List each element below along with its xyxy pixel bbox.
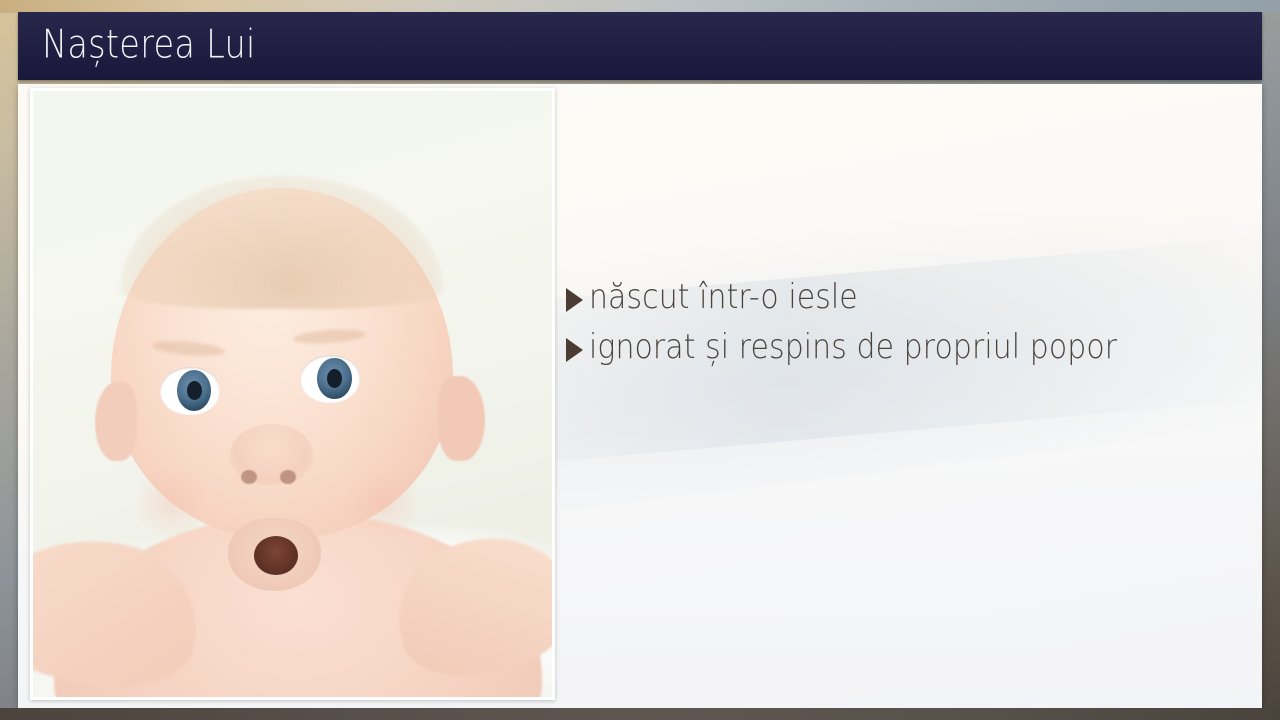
baby-right-cheek	[344, 467, 422, 540]
left-iris	[177, 370, 212, 412]
left-pupil	[187, 381, 202, 400]
baby-right-eye	[300, 355, 360, 403]
baby-photo-frame	[30, 88, 555, 700]
presentation-slide: Nașterea Lui	[0, 0, 1280, 720]
page-title: Nașterea Lui	[42, 23, 256, 68]
baby-mouth-opening	[254, 536, 298, 575]
baby-left-ear	[95, 382, 137, 461]
bullet-list: născut într-o iesle ignorat și respins d…	[566, 276, 1236, 375]
list-item: născut într-o iesle	[566, 276, 1236, 320]
bullet-text: ignorat și respins de propriul popor	[589, 326, 1117, 370]
slide-frame-bottom-edge	[0, 708, 1280, 720]
slide-content-panel: născut într-o iesle ignorat și respins d…	[18, 84, 1262, 708]
slide-title-bar: Nașterea Lui	[18, 12, 1262, 80]
right-iris	[317, 358, 352, 400]
baby-left-eye	[160, 367, 220, 415]
baby-photo	[33, 91, 552, 697]
bullet-text: născut într-o iesle	[589, 276, 858, 320]
baby-right-ear	[438, 376, 485, 461]
triangle-right-bullet-icon	[566, 288, 583, 312]
right-pupil	[327, 369, 342, 388]
triangle-right-bullet-icon	[566, 338, 583, 362]
list-item: ignorat și respins de propriul popor	[566, 326, 1236, 370]
